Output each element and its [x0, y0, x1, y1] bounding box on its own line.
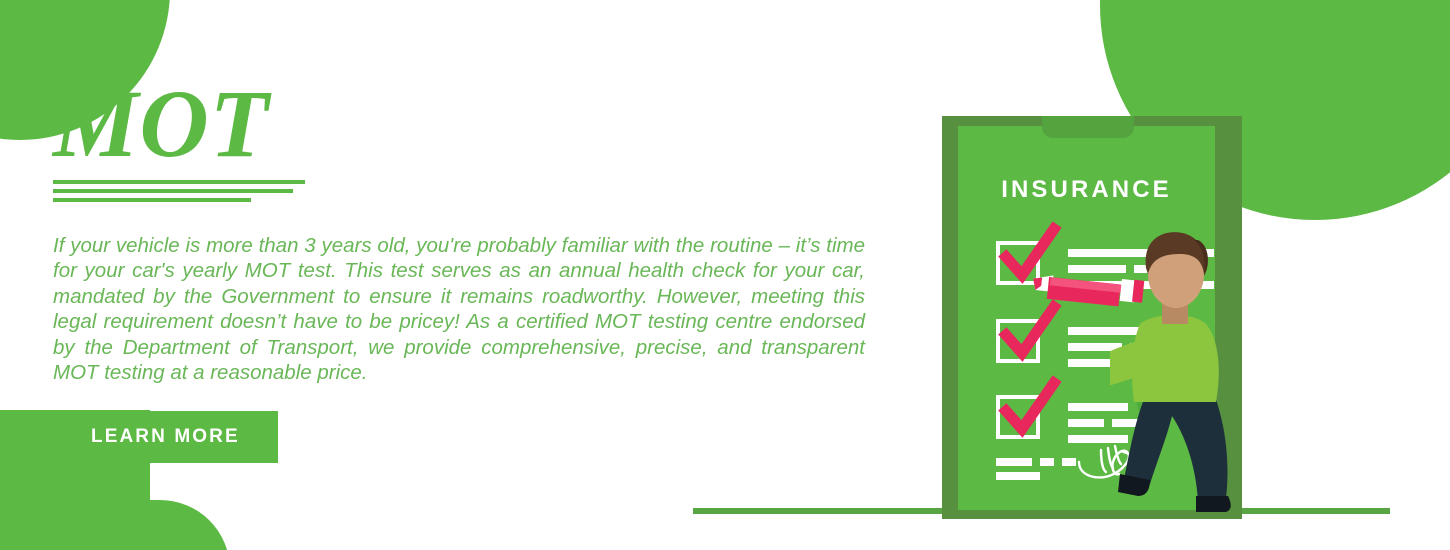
clipboard-title: INSURANCE	[958, 176, 1215, 204]
mot-promo-banner: MOT If your vehicle is more than 3 years…	[0, 0, 1450, 550]
text-line	[1068, 419, 1104, 427]
decorative-blob-bottom-left-curve	[0, 500, 230, 550]
title-underline-2	[53, 189, 293, 193]
insurance-clipboard-illustration: INSURANCE	[690, 100, 1390, 530]
text-line	[1040, 458, 1054, 466]
clipboard-clip	[1042, 116, 1134, 138]
text-line	[1062, 458, 1076, 466]
checkmark-icon-3	[998, 379, 1060, 441]
text-line	[996, 458, 1032, 466]
learn-more-button[interactable]: LEARN MORE	[53, 411, 278, 463]
text-line	[996, 472, 1040, 480]
title-underline-3	[53, 198, 251, 202]
pencil-icon	[1025, 255, 1155, 335]
title-underline-1	[53, 180, 305, 184]
